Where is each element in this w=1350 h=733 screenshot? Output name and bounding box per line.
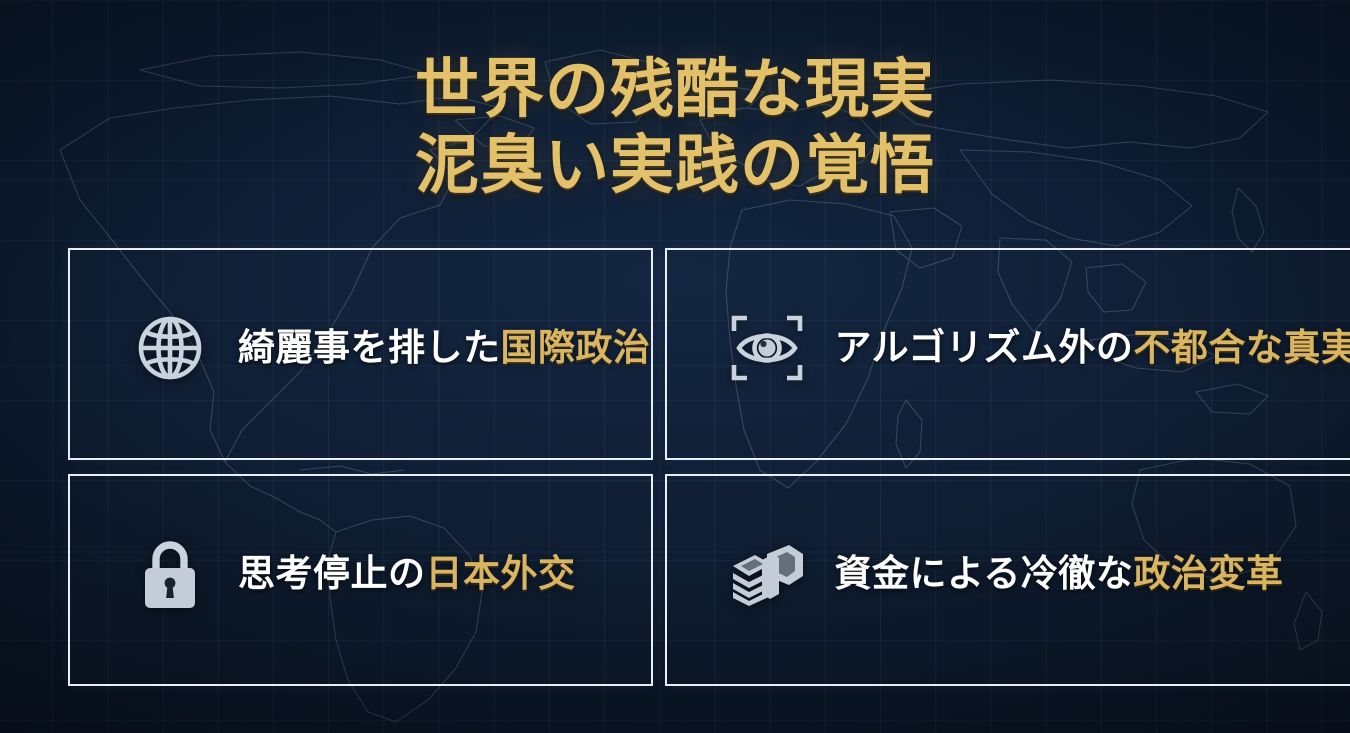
card-label-highlight: 国際政治: [501, 326, 651, 369]
card-label: 思考停止の日本外交: [238, 553, 576, 596]
card-label-highlight: 不都合な真実: [1133, 326, 1350, 369]
card-international-politics[interactable]: 綺麗事を排した国際政治: [68, 248, 653, 460]
card-label-plain: 綺麗事を排した: [238, 326, 501, 369]
money-stack-icon: [731, 538, 803, 610]
card-label-plain: アルゴリズム外の: [835, 326, 1134, 369]
card-label-highlight: 政治変革: [1133, 552, 1283, 595]
card-inconvenient-truth[interactable]: アルゴリズム外の不都合な真実: [665, 248, 1350, 460]
feature-card-grid: 綺麗事を排した国際政治: [68, 248, 1282, 686]
card-label: 綺麗事を排した国際政治: [238, 327, 651, 370]
title-line-2: 泥臭い実践の覚悟: [0, 128, 1350, 204]
page-title: 世界の残酷な現実 泥臭い実践の覚悟: [0, 52, 1350, 204]
card-label: アルゴリズム外の不都合な真実: [835, 327, 1350, 370]
card-political-reform[interactable]: 資金による冷徹な政治変革: [665, 474, 1350, 686]
card-japan-diplomacy[interactable]: 思考停止の日本外交: [68, 474, 653, 686]
title-line-1: 世界の残酷な現実: [0, 52, 1350, 128]
card-label-plain: 思考停止の: [238, 552, 426, 595]
slide-root: 世界の残酷な現実 泥臭い実践の覚悟: [0, 0, 1350, 733]
eye-scan-icon: [731, 312, 803, 384]
globe-icon: [134, 312, 206, 384]
card-label-highlight: 日本外交: [426, 552, 576, 595]
card-label-plain: 資金による冷徹な: [835, 552, 1134, 595]
card-label: 資金による冷徹な政治変革: [835, 553, 1284, 596]
lock-icon: [134, 538, 206, 610]
